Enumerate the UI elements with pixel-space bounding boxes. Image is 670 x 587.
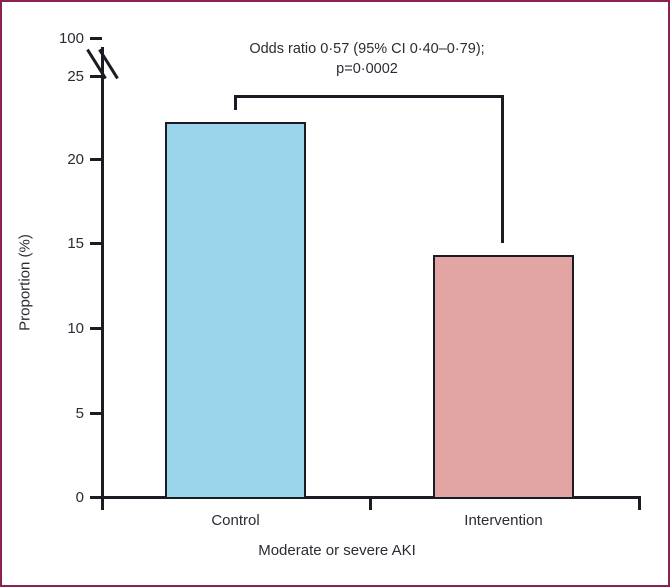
y-axis-title: Proportion (%)	[18, 223, 33, 343]
odds-ratio-line-2: p=0·0002	[202, 60, 532, 80]
y-tick-15	[90, 242, 102, 245]
x-tick-middle	[369, 496, 372, 510]
odds-ratio-line-1: Odds ratio 0·57 (95% CI 0·40–0·79);	[202, 40, 532, 60]
bar-intervention	[433, 255, 574, 499]
y-tick-100	[90, 37, 102, 40]
y-tick-label-5: 5	[28, 406, 84, 421]
bar-chart: 100 25 20 15 10 5 0 Control Intervention…	[2, 2, 670, 587]
y-tick-label-10: 10	[28, 321, 84, 336]
bar-control	[165, 122, 306, 499]
x-tick-start	[101, 496, 104, 510]
x-tick-end	[638, 496, 641, 510]
y-tick-label-20: 20	[28, 152, 84, 167]
y-axis-line	[101, 47, 104, 499]
odds-ratio-annotation: Odds ratio 0·57 (95% CI 0·40–0·79); p=0·…	[202, 40, 532, 79]
x-category-label-intervention: Intervention	[433, 513, 574, 528]
y-tick-20	[90, 158, 102, 161]
y-tick-label-25: 25	[28, 69, 84, 84]
significance-bracket-left-leg	[234, 95, 237, 110]
significance-bracket-top	[234, 95, 504, 98]
significance-bracket-right-leg	[501, 95, 504, 243]
y-tick-5	[90, 412, 102, 415]
y-tick-label-15: 15	[28, 236, 84, 251]
y-tick-label-100: 100	[28, 31, 84, 46]
y-tick-25	[90, 75, 102, 78]
x-axis-title: Moderate or severe AKI	[2, 543, 670, 558]
x-category-label-control: Control	[165, 513, 306, 528]
y-tick-label-0: 0	[28, 490, 84, 505]
y-tick-10	[90, 327, 102, 330]
figure-panel: 100 25 20 15 10 5 0 Control Intervention…	[0, 0, 670, 587]
